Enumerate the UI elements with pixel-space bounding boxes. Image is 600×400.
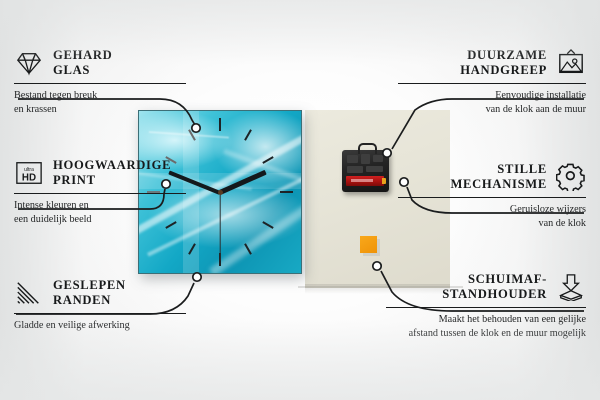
- feature-geslepen-randen: GESLEPEN RANDEN Gladde en veilige afwerk…: [14, 278, 186, 333]
- feature-divider: [14, 83, 186, 84]
- feature-description: Geruisloze wijzers van de klok: [398, 203, 586, 231]
- feature-title-line1: GESLEPEN: [53, 278, 126, 293]
- feature-title: SCHUIMAF- STANDHOUDER: [442, 272, 547, 303]
- ultra-hd-icon: ultra HD: [14, 159, 44, 187]
- gear-icon: [556, 163, 586, 191]
- feature-hoogwaardige-print: ultra HD HOOGWAARDIGE PRINT Intense kleu…: [14, 158, 186, 227]
- spacer-press-icon: [556, 273, 586, 301]
- feature-divider: [14, 193, 186, 194]
- ultra-hd-icon-bottom-text: HD: [22, 173, 36, 184]
- feature-title-line2: RANDEN: [53, 293, 126, 308]
- feature-title-line1: SCHUIMAF-: [442, 272, 547, 287]
- product-feature-infographic: GEHARD GLAS Bestand tegen breuk en krass…: [0, 0, 600, 400]
- feature-description: Maakt het behouden van een gelijke afsta…: [386, 313, 586, 341]
- feature-description: Bestand tegen breuk en krassen: [14, 89, 186, 117]
- feature-title-line2: GLAS: [53, 63, 112, 78]
- feature-duurzame-handgreep: DUURZAME HANDGREEP Eenvoudige installati…: [398, 48, 586, 117]
- feature-header: GEHARD GLAS: [14, 48, 186, 79]
- feature-desc-line2: van de klok: [398, 217, 586, 231]
- picture-frame-icon: [556, 49, 586, 77]
- feature-header: GESLEPEN RANDEN: [14, 278, 186, 309]
- feature-title-line2: HANDGREEP: [460, 63, 547, 78]
- feature-title: STILLE MECHANISME: [450, 162, 547, 193]
- feature-desc-line1: Maakt het behouden van een gelijke: [386, 313, 586, 327]
- feature-title-line1: DUURZAME: [460, 48, 547, 63]
- feature-schuimafstandhouder: SCHUIMAF- STANDHOUDER Maakt het behouden…: [386, 272, 586, 341]
- feature-desc-line1: Intense kleuren en: [14, 199, 186, 213]
- feature-gehard-glas: GEHARD GLAS Bestand tegen breuk en krass…: [14, 48, 186, 117]
- feature-desc-line2: en krassen: [14, 103, 186, 117]
- feature-desc-line1: Geruisloze wijzers: [398, 203, 586, 217]
- feature-description: Eenvoudige installatie van de klok aan d…: [398, 89, 586, 117]
- feature-divider: [398, 83, 586, 84]
- feature-title: DUURZAME HANDGREEP: [460, 48, 547, 79]
- connector-dot-geslepen-randen: [193, 273, 201, 281]
- beveled-edge-icon: [14, 279, 44, 307]
- feature-title: HOOGWAARDIGE PRINT: [53, 158, 171, 189]
- feature-divider: [14, 313, 186, 314]
- feature-title-line1: GEHARD: [53, 48, 112, 63]
- feature-header: ultra HD HOOGWAARDIGE PRINT: [14, 158, 186, 189]
- feature-desc-line1: Bestand tegen breuk: [14, 89, 186, 103]
- feature-desc-line2: afstand tussen de klok en de muur mogeli…: [386, 327, 586, 341]
- feature-header: STILLE MECHANISME: [398, 162, 586, 193]
- feature-title-line2: MECHANISME: [450, 177, 547, 192]
- feature-header: SCHUIMAF- STANDHOUDER: [386, 272, 586, 303]
- feature-title: GESLEPEN RANDEN: [53, 278, 126, 309]
- connector-dot-duurzame-handgreep: [383, 149, 391, 157]
- feature-title-line1: STILLE: [450, 162, 547, 177]
- feature-stille-mechanisme: STILLE MECHANISME Geruisloze wijzers van…: [398, 162, 586, 231]
- feature-desc-line2: van de klok aan de muur: [398, 103, 586, 117]
- feature-desc-line1: Eenvoudige installatie: [398, 89, 586, 103]
- feature-description: Gladde en veilige afwerking: [14, 319, 186, 333]
- feature-title-line2: STANDHOUDER: [442, 287, 547, 302]
- feature-description: Intense kleuren en een duidelijk beeld: [14, 199, 186, 227]
- feature-title-line1: HOOGWAARDIGE: [53, 158, 171, 173]
- feature-desc-line2: een duidelijk beeld: [14, 213, 186, 227]
- feature-divider: [398, 197, 586, 198]
- connector-dot-schuimafstandhouder: [373, 262, 381, 270]
- diamond-icon: [14, 49, 44, 77]
- connector-dot-gehard-glas: [192, 124, 200, 132]
- feature-divider: [386, 307, 586, 308]
- feature-desc-line1: Gladde en veilige afwerking: [14, 319, 186, 333]
- feature-title: GEHARD GLAS: [53, 48, 112, 79]
- feature-title-line2: PRINT: [53, 173, 171, 188]
- feature-header: DUURZAME HANDGREEP: [398, 48, 586, 79]
